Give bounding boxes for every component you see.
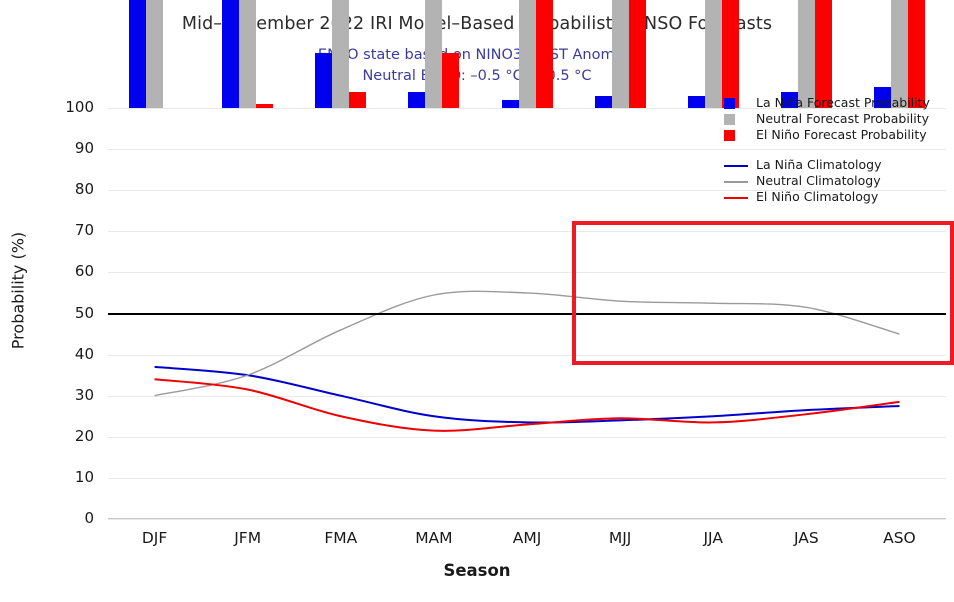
bar-el-nino-fma bbox=[349, 92, 366, 108]
bar-la-nina-mam bbox=[408, 92, 425, 108]
enso-forecast-chart: Mid–December 2022 IRI Model–Based Probab… bbox=[0, 0, 954, 602]
bar-el-nino-amj bbox=[536, 0, 553, 108]
legend-item-line-2: El Niño Climatology bbox=[724, 190, 950, 205]
legend-label: La Niña Climatology bbox=[756, 157, 882, 172]
bar-el-nino-jas bbox=[815, 0, 832, 108]
x-tick-label-jja: JJA bbox=[667, 529, 759, 547]
legend-bar-entries: La Niña Forecast ProbabilityNeutral Fore… bbox=[724, 96, 950, 143]
bar-neutral-jfm bbox=[239, 0, 256, 108]
legend-swatch-red-icon bbox=[724, 197, 748, 199]
legend-label: Neutral Forecast Probability bbox=[756, 111, 929, 126]
y-tick-label: 0 bbox=[22, 509, 94, 527]
legend-label: El Niño Climatology bbox=[756, 189, 878, 204]
legend-item-line-0: La Niña Climatology bbox=[724, 158, 950, 173]
legend-item-line-1: Neutral Climatology bbox=[724, 174, 950, 189]
legend-swatch-gray-icon bbox=[724, 114, 735, 125]
bar-neutral-fma bbox=[332, 0, 349, 108]
bar-la-nina-mjj bbox=[595, 96, 612, 108]
x-tick-label-fma: FMA bbox=[295, 529, 387, 547]
y-tick-label: 50 bbox=[22, 304, 94, 322]
chart-legend: La Niña Forecast ProbabilityNeutral Fore… bbox=[724, 96, 950, 206]
legend-item-bar-2: El Niño Forecast Probability bbox=[724, 128, 950, 143]
y-tick-label: 80 bbox=[22, 180, 94, 198]
bar-neutral-mam bbox=[425, 0, 442, 108]
x-tick-label-mjj: MJJ bbox=[574, 529, 666, 547]
y-tick-label: 30 bbox=[22, 386, 94, 404]
bar-el-nino-mam bbox=[442, 53, 459, 108]
bar-la-nina-jfm bbox=[222, 0, 239, 108]
bar-la-nina-jja bbox=[688, 96, 705, 108]
y-tick-label: 10 bbox=[22, 468, 94, 486]
legend-label: Neutral Climatology bbox=[756, 173, 881, 188]
y-tick-label: 70 bbox=[22, 221, 94, 239]
legend-line-entries: La Niña ClimatologyNeutral ClimatologyEl… bbox=[724, 158, 950, 205]
legend-item-bar-0: La Niña Forecast Probability bbox=[724, 96, 950, 111]
x-tick-label-jfm: JFM bbox=[202, 529, 294, 547]
bar-neutral-aso bbox=[891, 0, 908, 108]
bar-la-nina-fma bbox=[315, 53, 332, 108]
legend-swatch-red-icon bbox=[724, 130, 735, 141]
y-tick-label: 40 bbox=[22, 345, 94, 363]
bar-el-nino-aso bbox=[908, 0, 925, 108]
x-tick-label-djf: DJF bbox=[109, 529, 201, 547]
legend-swatch-blue-icon bbox=[724, 165, 748, 167]
y-tick-label: 60 bbox=[22, 262, 94, 280]
bar-el-nino-mjj bbox=[629, 0, 646, 108]
x-axis-line bbox=[108, 518, 946, 520]
x-tick-label-jas: JAS bbox=[760, 529, 852, 547]
legend-label: La Niña Forecast Probability bbox=[756, 95, 930, 110]
bar-neutral-djf bbox=[146, 0, 163, 108]
x-tick-label-amj: AMJ bbox=[481, 529, 573, 547]
x-tick-label-mam: MAM bbox=[388, 529, 480, 547]
bar-la-nina-djf bbox=[129, 0, 146, 108]
x-axis-label: Season bbox=[0, 561, 954, 580]
y-tick-label: 20 bbox=[22, 427, 94, 445]
bar-neutral-amj bbox=[519, 0, 536, 108]
bar-neutral-mjj bbox=[612, 0, 629, 108]
bar-neutral-jas bbox=[798, 0, 815, 108]
legend-item-bar-1: Neutral Forecast Probability bbox=[724, 112, 950, 127]
legend-label: El Niño Forecast Probability bbox=[756, 127, 927, 142]
y-tick-label: 90 bbox=[22, 139, 94, 157]
legend-swatch-gray-icon bbox=[724, 181, 748, 183]
y-tick-label: 100 bbox=[22, 98, 94, 116]
x-tick-label-aso: ASO bbox=[853, 529, 945, 547]
red-highlight-rectangle bbox=[572, 221, 954, 365]
bar-la-nina-amj bbox=[502, 100, 519, 108]
bar-el-nino-jja bbox=[722, 0, 739, 108]
gridline bbox=[108, 519, 946, 520]
bar-neutral-jja bbox=[705, 0, 722, 108]
legend-swatch-blue-icon bbox=[724, 98, 735, 109]
